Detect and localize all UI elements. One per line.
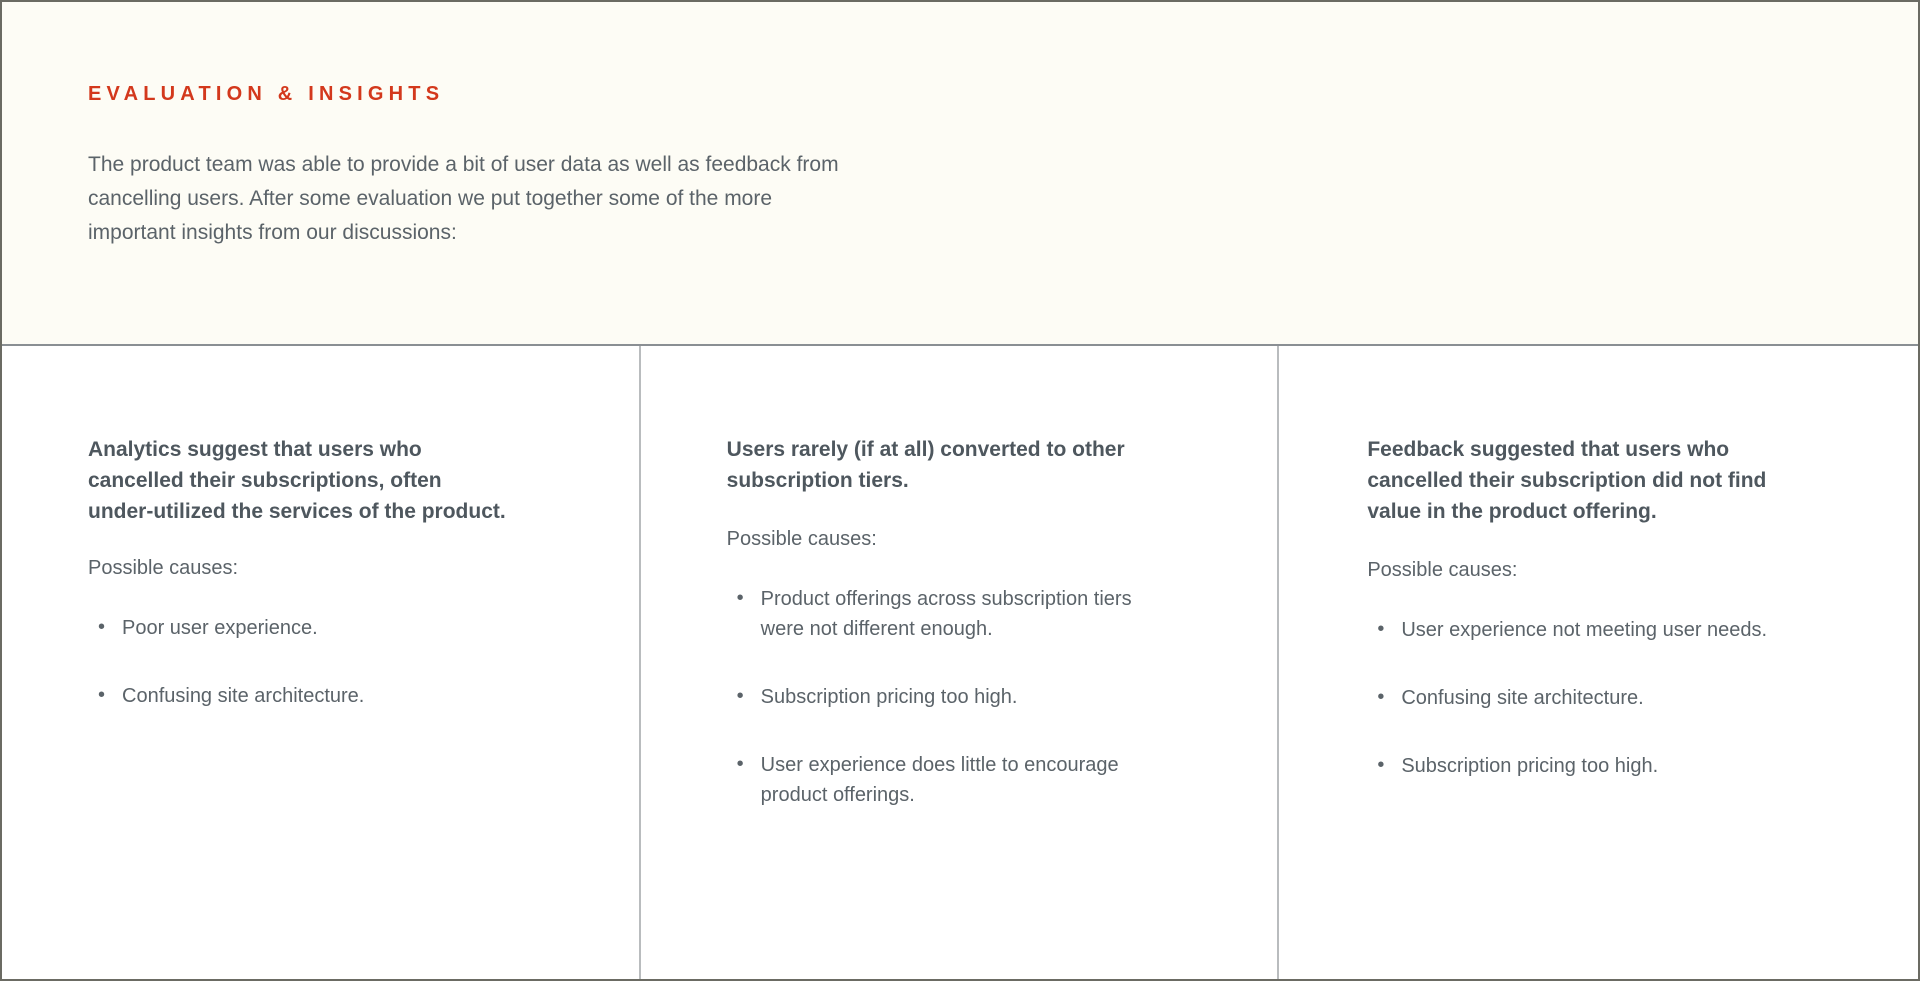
- list-item: User experience not meeting user needs.: [1367, 615, 1807, 645]
- intro-paragraph-wrap: The product team was able to provide a b…: [88, 148, 848, 250]
- insight-heading: Feedback suggested that users who cancel…: [1367, 434, 1787, 527]
- possible-causes-list: Product offerings across subscription ti…: [727, 584, 1167, 810]
- insights-slide: EVALUATION & INSIGHTS The product team w…: [0, 0, 1920, 981]
- insight-column-2: Users rarely (if at all) converted to ot…: [639, 346, 1278, 979]
- insight-columns: Analytics suggest that users who cancell…: [2, 346, 1918, 979]
- list-item: Poor user experience.: [88, 613, 528, 643]
- possible-causes-label: Possible causes:: [88, 553, 565, 583]
- intro-paragraph: The product team was able to provide a b…: [88, 148, 848, 250]
- list-item: User experience does little to encourage…: [727, 750, 1167, 810]
- section-eyebrow-title: EVALUATION & INSIGHTS: [88, 84, 1918, 104]
- list-item: Confusing site architecture.: [88, 681, 528, 711]
- possible-causes-label: Possible causes:: [727, 524, 1204, 554]
- list-item: Subscription pricing too high.: [727, 682, 1167, 712]
- insight-heading: Users rarely (if at all) converted to ot…: [727, 434, 1147, 496]
- insight-column-1: Analytics suggest that users who cancell…: [2, 346, 639, 979]
- intro-section: EVALUATION & INSIGHTS The product team w…: [2, 2, 1918, 346]
- list-item: Confusing site architecture.: [1367, 683, 1807, 713]
- insight-heading: Analytics suggest that users who cancell…: [88, 434, 508, 527]
- list-item: Product offerings across subscription ti…: [727, 584, 1167, 644]
- possible-causes-list: Poor user experience. Confusing site arc…: [88, 613, 528, 711]
- possible-causes-list: User experience not meeting user needs. …: [1367, 615, 1807, 781]
- insight-column-3: Feedback suggested that users who cancel…: [1277, 346, 1918, 979]
- possible-causes-label: Possible causes:: [1367, 555, 1844, 585]
- list-item: Subscription pricing too high.: [1367, 751, 1807, 781]
